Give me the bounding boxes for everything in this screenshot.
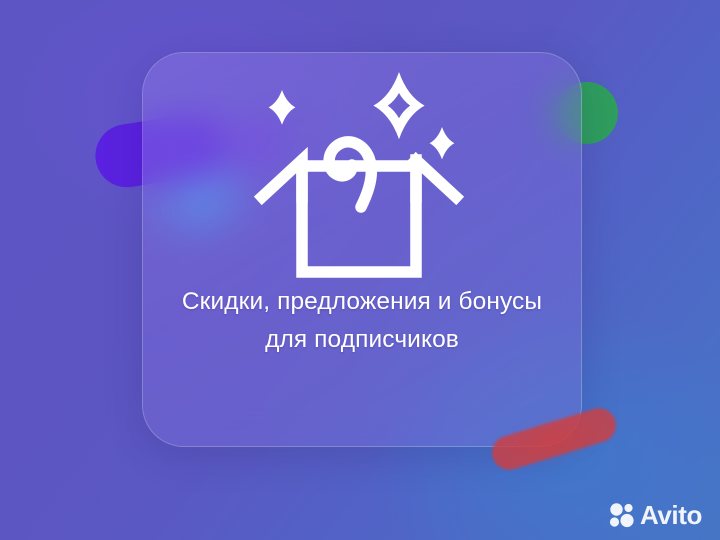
avito-dots-icon bbox=[609, 502, 635, 528]
avito-logo: Avito bbox=[609, 502, 702, 528]
promo-banner: Скидки, предложения и бонусы для подписч… bbox=[0, 0, 720, 540]
headline-line-1: Скидки, предложения и бонусы bbox=[143, 283, 581, 321]
headline-line-2: для подписчиков bbox=[143, 321, 581, 359]
page-title: Скидки, предложения и бонусы для подписч… bbox=[143, 283, 581, 359]
avito-wordmark: Avito bbox=[640, 502, 702, 528]
glass-card: Скидки, предложения и бонусы для подписч… bbox=[142, 52, 582, 447]
gift-box-icon bbox=[246, 67, 478, 283]
card-content: Скидки, предложения и бонусы для подписч… bbox=[143, 53, 581, 446]
